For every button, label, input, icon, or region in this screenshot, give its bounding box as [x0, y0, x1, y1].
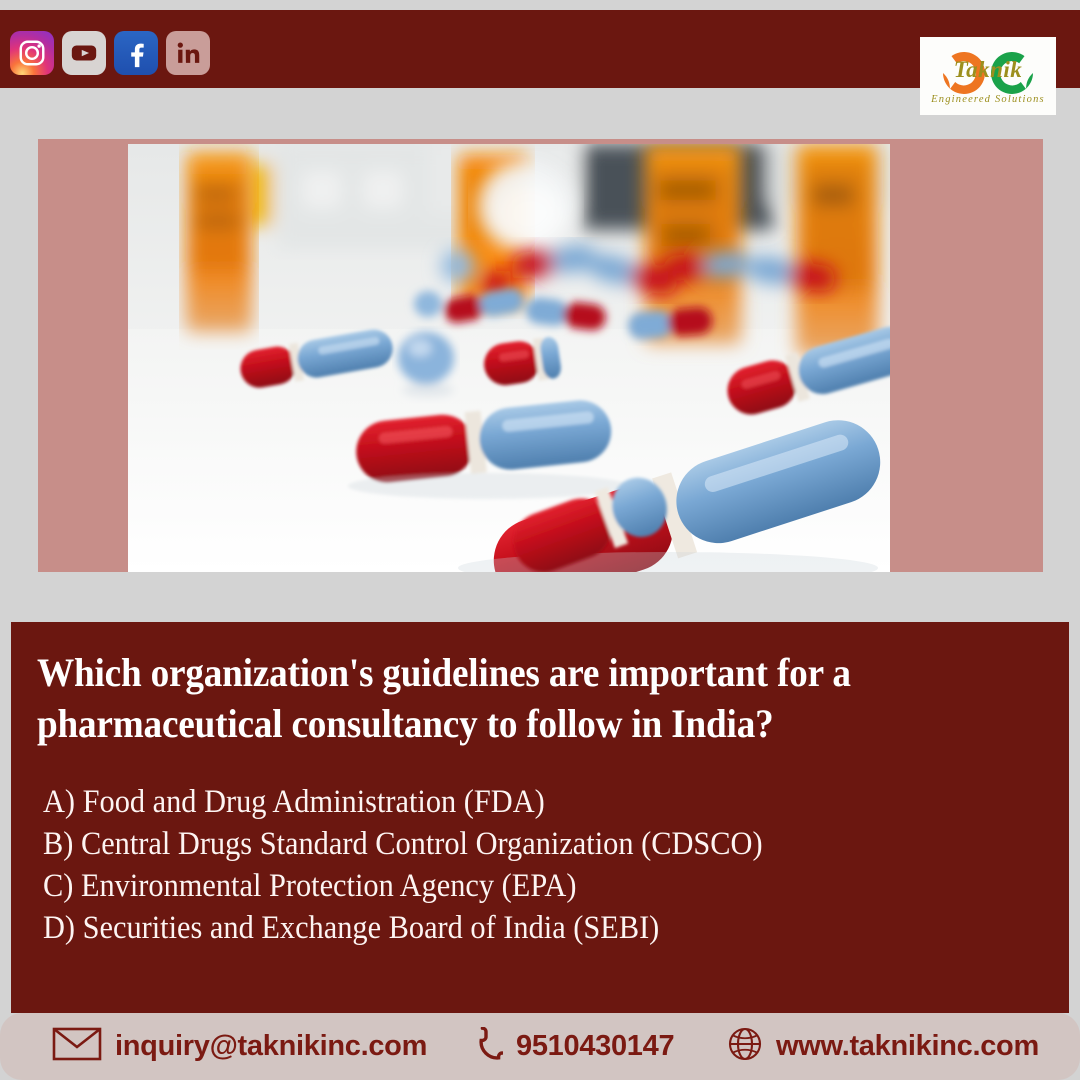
question-panel: Which organization's guidelines are impo…	[11, 622, 1069, 1013]
website-text: www.taknikinc.com	[776, 1030, 1039, 1063]
poster-canvas: Taknik Engineered Solutions	[0, 0, 1080, 1080]
question-text: Which organization's guidelines are impo…	[37, 648, 972, 750]
contact-phone[interactable]: 9510430147	[476, 1027, 674, 1066]
options-list: A) Food and Drug Administration (FDA) B)…	[43, 782, 1043, 950]
logo-mark: Taknik	[925, 48, 1051, 98]
logo-wordmark: Taknik	[925, 57, 1051, 83]
phone-icon	[476, 1027, 503, 1066]
taknik-logo[interactable]: Taknik Engineered Solutions	[920, 37, 1056, 115]
option-a[interactable]: A) Food and Drug Administration (FDA)	[43, 782, 963, 824]
option-d[interactable]: D) Securities and Exchange Board of Indi…	[43, 908, 963, 950]
photo-frame	[38, 139, 1043, 572]
contact-email[interactable]: inquiry@taknikinc.com	[52, 1027, 427, 1066]
capsules-photo	[128, 144, 890, 572]
facebook-icon[interactable]	[114, 31, 158, 75]
social-links-row	[10, 31, 210, 75]
phone-text: 9510430147	[516, 1030, 674, 1063]
email-text: inquiry@taknikinc.com	[115, 1030, 427, 1063]
contact-footer: inquiry@taknikinc.com 9510430147	[0, 1013, 1080, 1080]
linkedin-icon[interactable]	[166, 31, 210, 75]
contact-website[interactable]: www.taknikinc.com	[727, 1026, 1039, 1067]
top-banner: Taknik Engineered Solutions	[0, 10, 1080, 88]
option-c[interactable]: C) Environmental Protection Agency (EPA)	[43, 866, 963, 908]
instagram-icon[interactable]	[10, 31, 54, 75]
envelope-icon	[52, 1027, 102, 1066]
globe-icon	[727, 1026, 763, 1067]
youtube-icon[interactable]	[62, 31, 106, 75]
option-b[interactable]: B) Central Drugs Standard Control Organi…	[43, 824, 963, 866]
